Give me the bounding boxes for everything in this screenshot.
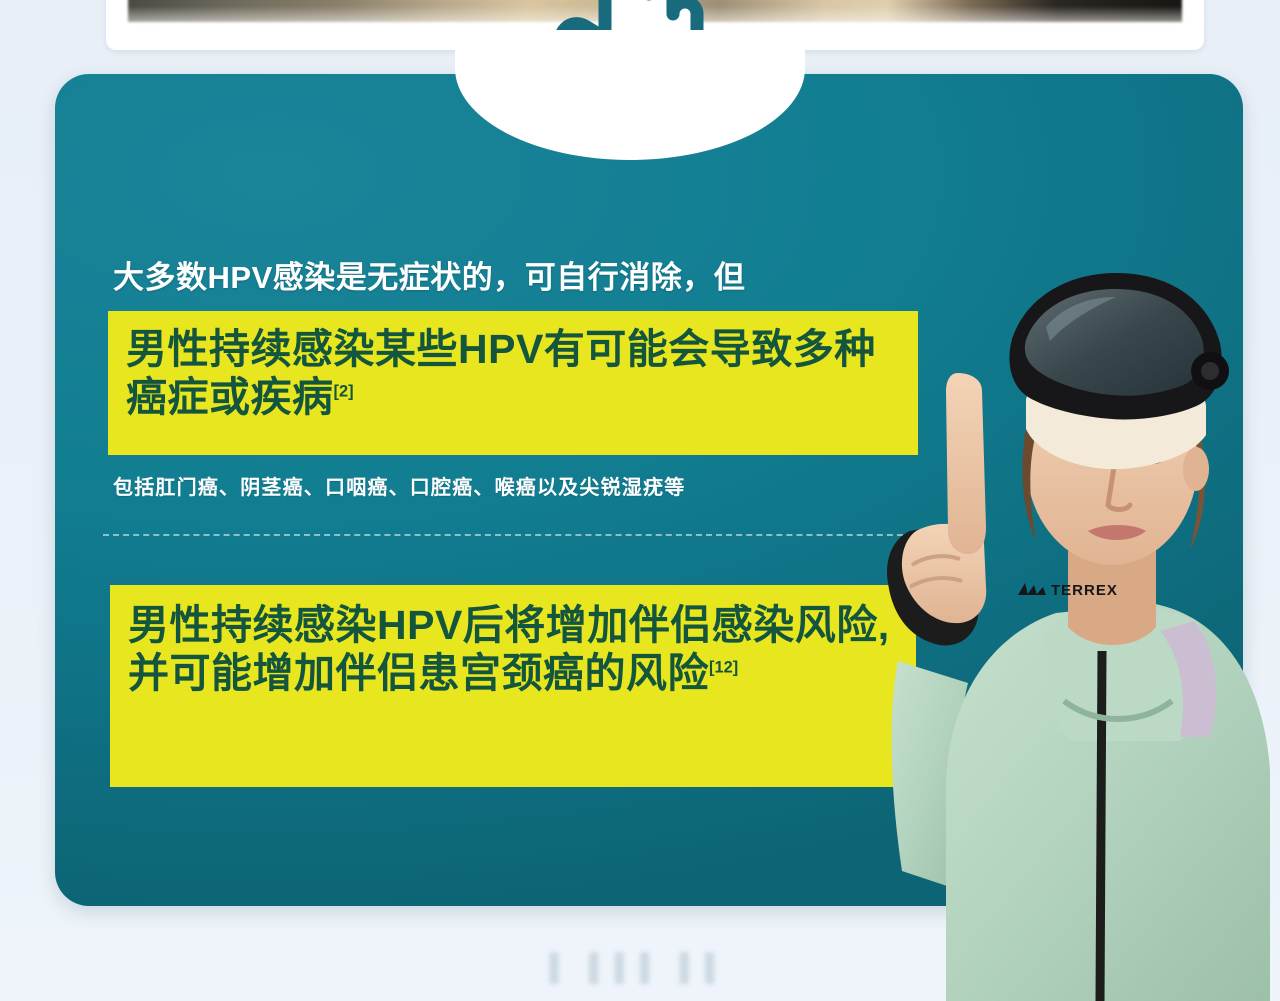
dashed-divider — [103, 534, 913, 536]
intro-text: 大多数HPV感染是无症状的，可自行消除，但 — [113, 252, 953, 297]
highlight-block-2: 男性持续感染HPV后将增加伴侣感染风险,并可能增加伴侣患宫颈癌的风险[12] — [110, 585, 916, 787]
highlight-block-2-text: 男性持续感染HPV后将增加伴侣感染风险,并可能增加伴侣患宫颈癌的风险 — [128, 602, 890, 696]
caption-text: 包括肛门癌、阴茎癌、口咽癌、口腔癌、喉癌以及尖锐湿疣等 — [113, 471, 933, 500]
main-teal-card: 大多数HPV感染是无症状的，可自行消除，但 男性持续感染某些HPV有可能会导致多… — [55, 74, 1243, 906]
bottom-watermark: ▌ ▌▌▌ ▌▌ — [0, 952, 1280, 983]
highlight-block-1-text: 男性持续感染某些HPV有可能会导致多种癌症或疾病 — [126, 326, 876, 420]
card-content: 大多数HPV感染是无症状的，可自行消除，但 男性持续感染某些HPV有可能会导致多… — [55, 74, 1243, 906]
citation-marker-2: [2] — [334, 383, 354, 401]
page-background: 大多数HPV感染是无症状的，可自行消除，但 男性持续感染某些HPV有可能会导致多… — [0, 0, 1280, 1001]
highlight-block-1: 男性持续感染某些HPV有可能会导致多种癌症或疾病[2] — [108, 311, 918, 455]
citation-marker-12: [12] — [709, 659, 738, 677]
